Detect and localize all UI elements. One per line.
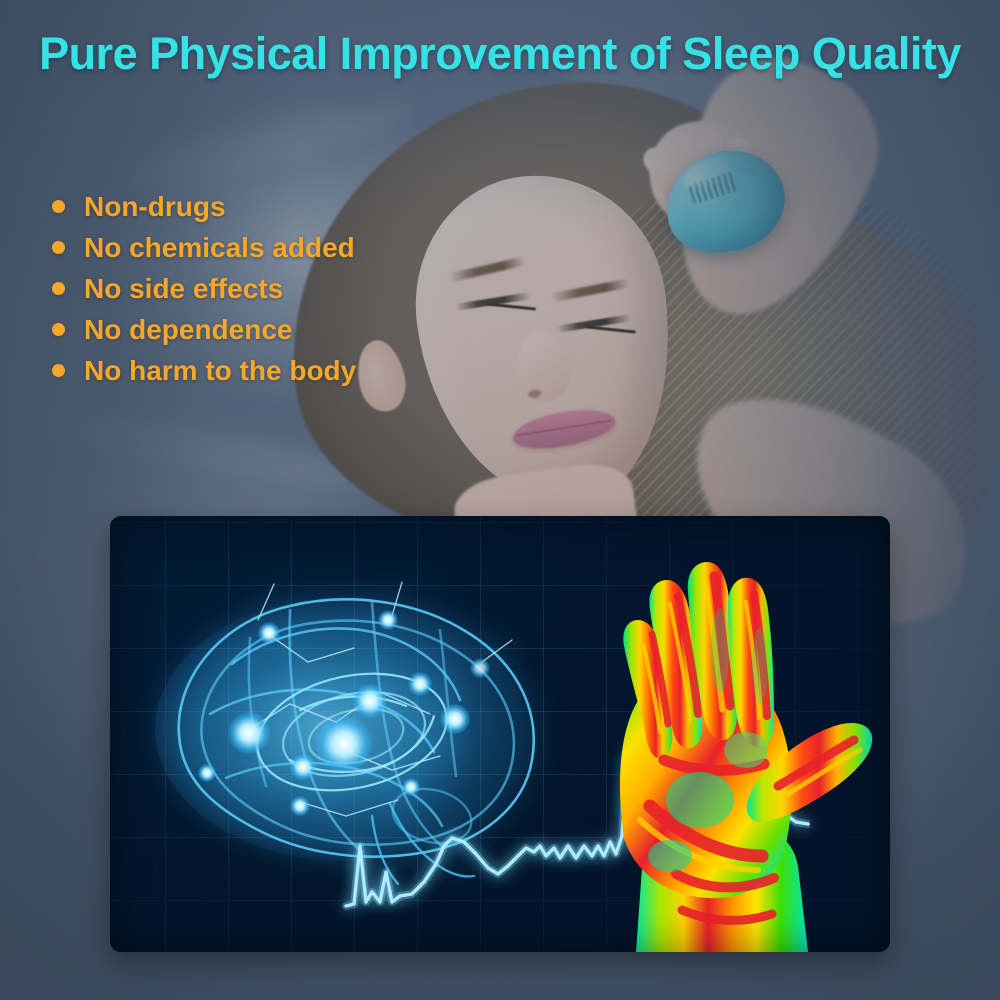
list-item-label: No harm to the body (84, 355, 356, 387)
benefits-list: Non-drugs No chemicals added No side eff… (52, 186, 492, 391)
list-item-label: No chemicals added (84, 232, 355, 264)
thermal-hand-icon (578, 538, 888, 952)
neuron-node (198, 764, 216, 782)
neuron-node (378, 610, 398, 630)
bullet-dot-icon (52, 282, 65, 295)
list-item: No chemicals added (52, 227, 492, 268)
page-title: Pure Physical Improvement of Sleep Quali… (0, 28, 1000, 80)
neuron-node (228, 712, 270, 754)
neuron-node (258, 622, 280, 644)
list-item-label: No side effects (84, 273, 283, 305)
list-item-label: No dependence (84, 314, 292, 346)
list-item: No dependence (52, 309, 492, 350)
tech-visual-panel (110, 516, 890, 952)
bullet-dot-icon (52, 241, 65, 254)
list-item: No harm to the body (52, 350, 492, 391)
neuron-node (470, 658, 490, 678)
list-item: Non-drugs (52, 186, 492, 227)
poster-root: Pure Physical Improvement of Sleep Quali… (0, 0, 1000, 1000)
neuron-node (290, 754, 316, 780)
bullet-dot-icon (52, 364, 65, 377)
bullet-dot-icon (52, 200, 65, 213)
thermal-hand-image (578, 538, 888, 952)
bullet-dot-icon (52, 323, 65, 336)
list-item: No side effects (52, 268, 492, 309)
neuron-node (290, 796, 310, 816)
list-item-label: Non-drugs (84, 191, 226, 223)
neuron-node (408, 672, 432, 696)
